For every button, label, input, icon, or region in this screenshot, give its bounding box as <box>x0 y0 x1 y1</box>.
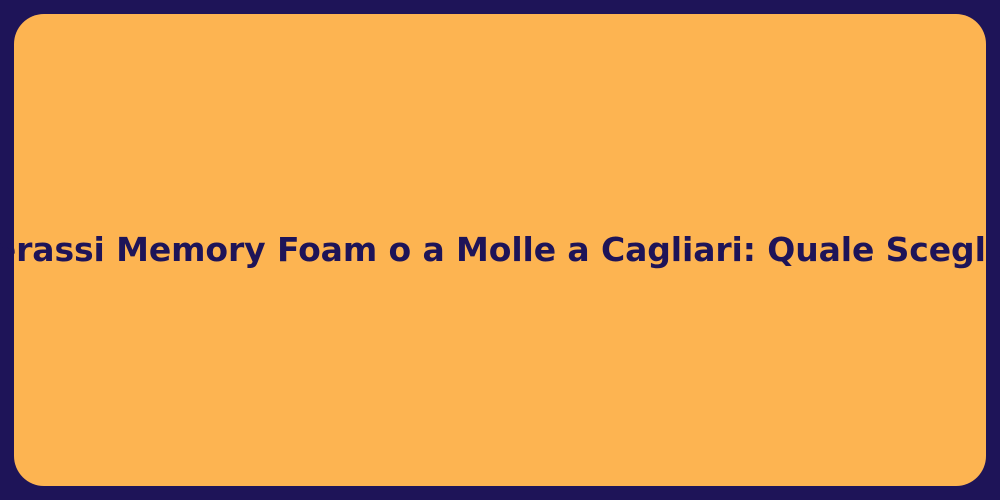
banner-card: Materassi Memory Foam o a Molle a Caglia… <box>14 14 986 486</box>
page-title: Materassi Memory Foam o a Molle a Caglia… <box>0 229 1000 270</box>
banner-frame: Materassi Memory Foam o a Molle a Caglia… <box>0 0 1000 500</box>
